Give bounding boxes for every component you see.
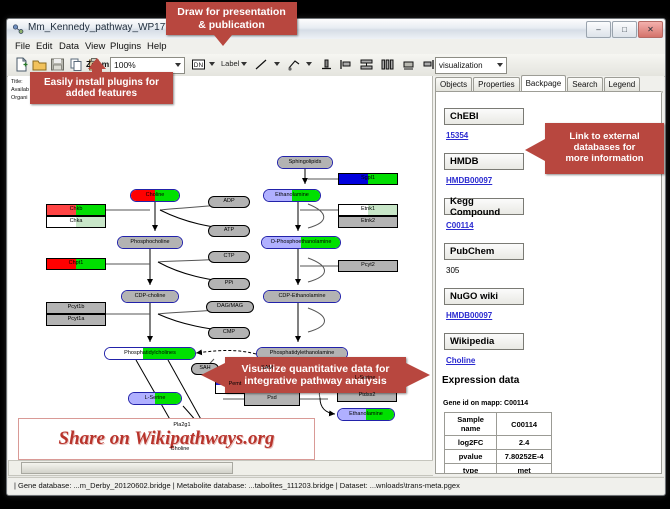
- maximize-button[interactable]: □: [612, 21, 637, 38]
- callout-links-arrow-icon: [525, 139, 545, 161]
- metabolite-node[interactable]: Phosphocholine: [117, 236, 183, 249]
- tab-legend[interactable]: Legend: [604, 77, 641, 91]
- db-link-wikipedia[interactable]: Choline: [446, 356, 475, 365]
- zoom-value: 100%: [114, 60, 136, 70]
- metabolite-node[interactable]: Choline: [130, 189, 180, 202]
- db-name: Kegg Compound: [450, 196, 523, 218]
- close-button[interactable]: ✕: [638, 21, 663, 38]
- metabolite-node[interactable]: Ethanolamine: [337, 408, 395, 421]
- align-left-icon[interactable]: [338, 57, 353, 72]
- gene-node[interactable]: Etnk2: [338, 216, 398, 228]
- node-label: Ethanolamine: [275, 193, 309, 199]
- node-label: Choline: [171, 447, 190, 453]
- gene-node[interactable]: Pcyt2: [338, 260, 398, 272]
- db-link-nugo[interactable]: HMDB00097: [446, 311, 492, 320]
- gene-node[interactable]: Pcyt1b: [46, 302, 106, 314]
- align-bottom-icon[interactable]: [319, 57, 334, 72]
- cell-value: 7.80252E-4: [497, 450, 552, 464]
- db-header-kegg: Kegg Compound: [444, 198, 524, 215]
- node-label: Ethanolamine: [349, 412, 383, 418]
- node-label: Sgpl1: [361, 176, 375, 182]
- status-bar: | Gene database: ...m_Derby_20120602.bri…: [8, 477, 664, 494]
- db-link-hmdb[interactable]: HMDB00097: [446, 176, 492, 185]
- visualization-combo[interactable]: visualization: [435, 57, 507, 74]
- window-buttons: – □ ✕: [586, 21, 663, 38]
- node-label: Chkb: [70, 207, 83, 213]
- menu-item-edit[interactable]: Edit: [36, 41, 52, 52]
- cofactor-node[interactable]: PPi: [208, 278, 250, 290]
- cell-key: log2FC: [445, 436, 497, 450]
- distribute-icon[interactable]: [380, 57, 395, 72]
- cell-key: pvalue: [445, 450, 497, 464]
- cofactor-node[interactable]: ADP: [208, 196, 250, 208]
- stack-vertical-icon[interactable]: [359, 57, 374, 72]
- node-label: CDP-Ethanolamine: [278, 294, 325, 300]
- arrow-shape-icon[interactable]: [287, 57, 302, 72]
- callout-visualize: Visualize quantitative data for integrat…: [225, 357, 406, 393]
- node-label: Pla2g1: [173, 423, 190, 429]
- label-dropdown-chevron-icon[interactable]: [241, 62, 247, 66]
- expression-data-heading: Expression data: [442, 375, 519, 386]
- line-icon[interactable]: [254, 57, 269, 72]
- new-file-icon[interactable]: [14, 57, 29, 72]
- table-row: type met: [445, 464, 552, 475]
- db-name: ChEBI: [450, 111, 479, 122]
- db-name: PubChem: [450, 246, 494, 257]
- cofactor-node[interactable]: CMP: [208, 327, 250, 339]
- node-label: Pcyt1b: [68, 305, 85, 311]
- callout-plugins-line1: Easily install plugins for: [44, 77, 159, 89]
- cell-value: C00114: [497, 413, 552, 436]
- callout-draw-line2: & publication: [198, 19, 265, 31]
- callout-links-line3: more information: [565, 154, 643, 165]
- node-label: Phosphocholine: [130, 240, 169, 246]
- canvas-hscrollbar[interactable]: [8, 460, 434, 476]
- cell-key: type: [445, 464, 497, 475]
- hscroll-thumb[interactable]: [21, 462, 233, 474]
- gene-node[interactable]: Chka: [46, 216, 106, 228]
- menu-item-plugins[interactable]: Plugins: [110, 41, 141, 52]
- minimize-button[interactable]: –: [586, 21, 611, 38]
- callout-plugins-arrow-stem: [92, 68, 102, 74]
- chevron-down-icon: [175, 63, 181, 67]
- node-label: CMP: [223, 330, 235, 336]
- visualization-value: visualization: [439, 61, 483, 70]
- app-icon: [12, 23, 24, 35]
- node-label: ADP: [223, 199, 234, 205]
- node-label: Phosphatidylethanolamine: [270, 351, 335, 357]
- db-header-chebi: ChEBI: [444, 108, 524, 125]
- node-label: Chpt1: [69, 261, 84, 267]
- cofactor-node[interactable]: CTP: [208, 251, 250, 263]
- node-label: Etnk2: [361, 219, 375, 225]
- node-label: L-Serine: [145, 396, 166, 402]
- db-value-pubchem: 305: [446, 266, 459, 275]
- callout-plugins-line2: added features: [66, 88, 137, 100]
- datanode-dropdown-chevron-icon[interactable]: [209, 62, 215, 66]
- callout-links-arrow-stem: [543, 143, 549, 156]
- node-label: Ptdss2: [359, 393, 376, 399]
- align-right-icon[interactable]: [421, 57, 436, 72]
- gene-node[interactable]: Pcyt1a: [46, 314, 106, 326]
- tab-objects[interactable]: Objects: [435, 77, 472, 91]
- line-dropdown-chevron-icon[interactable]: [274, 62, 280, 66]
- node-label: CDP-choline: [135, 294, 166, 300]
- node-label: Etnk1: [361, 207, 375, 213]
- panel-tabs: Objects Properties Backpage Search Legen…: [435, 76, 641, 91]
- tab-backpage[interactable]: Backpage: [521, 75, 567, 91]
- table-row: pvalue 7.80252E-4: [445, 450, 552, 464]
- pathway-canvas[interactable]: Title: Availab Organi: [8, 76, 433, 476]
- screenshot-root: Mm_Kennedy_pathway_WP1771_45176.gpml – □…: [0, 0, 670, 509]
- metabolite-node[interactable]: Phosphatidylcholines: [104, 347, 196, 360]
- share-text: Share on Wikipathways.org: [59, 428, 275, 450]
- chevron-down-icon: [497, 63, 503, 67]
- db-name: NuGO wiki: [450, 291, 498, 302]
- panel-vscrollbar[interactable]: [661, 91, 663, 93]
- metabolite-node[interactable]: L-Serine: [128, 392, 182, 405]
- node-label: Sphingolipids: [289, 160, 322, 166]
- node-label: ATP: [224, 228, 234, 234]
- gene-node[interactable]: Psd: [244, 392, 300, 406]
- close-glyph: ✕: [647, 26, 654, 34]
- copy-icon[interactable]: [69, 57, 84, 72]
- gene-node[interactable]: Chkb: [46, 204, 106, 216]
- open-folder-icon[interactable]: [32, 57, 47, 72]
- node-label: Pcyt2: [361, 263, 375, 269]
- node-label: L-Serine: [355, 376, 376, 382]
- callout-draw-arrow-stem: [218, 33, 228, 38]
- menu-bar: File Edit Data View Plugins Help: [7, 39, 665, 55]
- node-label: Chka: [70, 219, 83, 225]
- callout-share: Share on Wikipathways.org: [18, 418, 315, 460]
- node-label: SAM: [261, 366, 273, 372]
- table-row: Sample name C00114: [445, 413, 552, 436]
- title-bar: Mm_Kennedy_pathway_WP1771_45176.gpml – □…: [7, 19, 665, 40]
- gene-node[interactable]: Sgpl1: [338, 173, 398, 185]
- node-label: Psd: [267, 396, 276, 402]
- tab-search[interactable]: Search: [567, 77, 602, 91]
- node-label: CTP: [224, 254, 235, 260]
- label-tool-label[interactable]: Label: [221, 59, 239, 68]
- save-icon[interactable]: [50, 57, 65, 72]
- callout-plugins: Easily install plugins for added feature…: [30, 72, 173, 104]
- status-text: | Gene database: ...m_Derby_20120602.bri…: [14, 481, 460, 490]
- menu-item-data[interactable]: Data: [59, 41, 79, 52]
- node-label: O-Phosphoethanolamine: [271, 240, 332, 246]
- cell-value: 2.4: [497, 436, 552, 450]
- gene-node[interactable]: Etnk1: [338, 204, 398, 216]
- menu-item-view[interactable]: View: [85, 41, 105, 52]
- callout-links: Link to external databases for more info…: [545, 123, 664, 174]
- cofactor-node[interactable]: ATP: [208, 225, 250, 237]
- node-label: PPi: [225, 281, 234, 287]
- node-label: DAG/MAG: [217, 304, 243, 310]
- tab-properties[interactable]: Properties: [473, 77, 519, 91]
- callout-draw-line1: Draw for presentation: [177, 6, 286, 18]
- menu-item-file[interactable]: File: [15, 41, 30, 52]
- align-center-icon[interactable]: [401, 57, 416, 72]
- db-header-pubchem: PubChem: [444, 243, 524, 260]
- shape-dropdown-chevron-icon[interactable]: [306, 62, 312, 66]
- cofactor-node[interactable]: DAG/MAG: [206, 301, 254, 313]
- cell-key: Sample name: [445, 413, 497, 436]
- svg-text:DN: DN: [194, 62, 204, 69]
- node-label: Pcyt1a: [68, 317, 85, 323]
- metabolite-node[interactable]: O-Phosphoethanolamine: [261, 236, 341, 249]
- datanode-icon[interactable]: DN: [191, 57, 206, 72]
- db-link-kegg[interactable]: C00114: [446, 221, 474, 230]
- node-label: Pemt: [229, 382, 242, 388]
- node-label: SAH: [199, 366, 210, 372]
- db-header-nugo: NuGO wiki: [444, 288, 524, 305]
- node-label: Choline: [146, 193, 165, 199]
- expression-table: Sample name C00114 log2FC 2.4 pvalue 7.8…: [444, 412, 552, 474]
- cell-value: met: [497, 464, 552, 475]
- maximize-glyph: □: [622, 26, 627, 34]
- callout-draw: Draw for presentation & publication: [166, 2, 297, 35]
- minimize-glyph: –: [596, 26, 600, 34]
- callout-visualize-arrow-right-icon: [406, 363, 430, 387]
- db-header-wikipedia: Wikipedia: [444, 333, 524, 350]
- db-name: HMDB: [450, 156, 479, 167]
- menu-item-help[interactable]: Help: [147, 41, 167, 52]
- db-link-chebi[interactable]: 15354: [446, 131, 468, 140]
- gene-node[interactable]: Chpt1: [46, 258, 106, 270]
- table-row: log2FC 2.4: [445, 436, 552, 450]
- metabolite-node[interactable]: CDP-choline: [121, 290, 179, 303]
- db-name: Wikipedia: [450, 336, 494, 347]
- node-label: Phosphatidylcholines: [124, 351, 176, 357]
- metabolite-node[interactable]: Sphingolipids: [277, 156, 333, 169]
- metabolite-node[interactable]: CDP-Ethanolamine: [263, 290, 341, 303]
- metabolite-node[interactable]: Ethanolamine: [263, 189, 321, 202]
- gene-id-line: Gene id on mapp: C00114: [443, 400, 528, 407]
- db-header-hmdb: HMDB: [444, 153, 524, 170]
